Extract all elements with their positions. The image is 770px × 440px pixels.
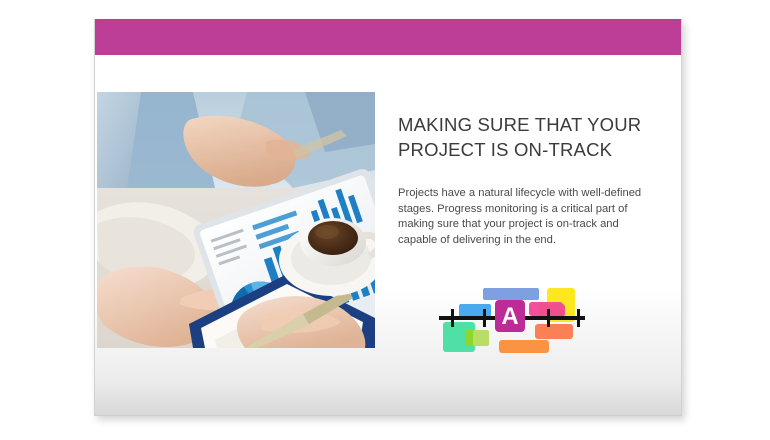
slide-header-band xyxy=(95,19,681,55)
slide-body-text: Projects have a natural lifecycle with w… xyxy=(398,186,660,248)
bar-orange-bottom xyxy=(499,340,549,353)
gantt-letter-a: A xyxy=(501,303,518,330)
gantt-chart-icon: A xyxy=(435,274,595,359)
axis-tick xyxy=(547,309,550,327)
project-timeline-graphic: A xyxy=(435,274,595,359)
axis-tick xyxy=(577,309,580,327)
bar-blue-top xyxy=(483,288,539,300)
business-tablet-photo xyxy=(97,92,375,348)
slide-text-column: MAKING SURE THAT YOUR PROJECT IS ON-TRAC… xyxy=(398,112,660,248)
bar-blue-small xyxy=(459,304,491,317)
bar-lime-pale xyxy=(473,330,489,346)
slide-title: MAKING SURE THAT YOUR PROJECT IS ON-TRAC… xyxy=(398,112,660,162)
photo-illustration xyxy=(97,92,375,348)
axis-tick xyxy=(451,309,454,327)
bar-pink-light xyxy=(539,304,565,317)
axis-tick xyxy=(483,309,486,327)
slide-stage: MAKING SURE THAT YOUR PROJECT IS ON-TRAC… xyxy=(0,0,770,440)
bar-orange xyxy=(535,324,573,339)
presentation-slide[interactable]: MAKING SURE THAT YOUR PROJECT IS ON-TRAC… xyxy=(94,19,682,416)
